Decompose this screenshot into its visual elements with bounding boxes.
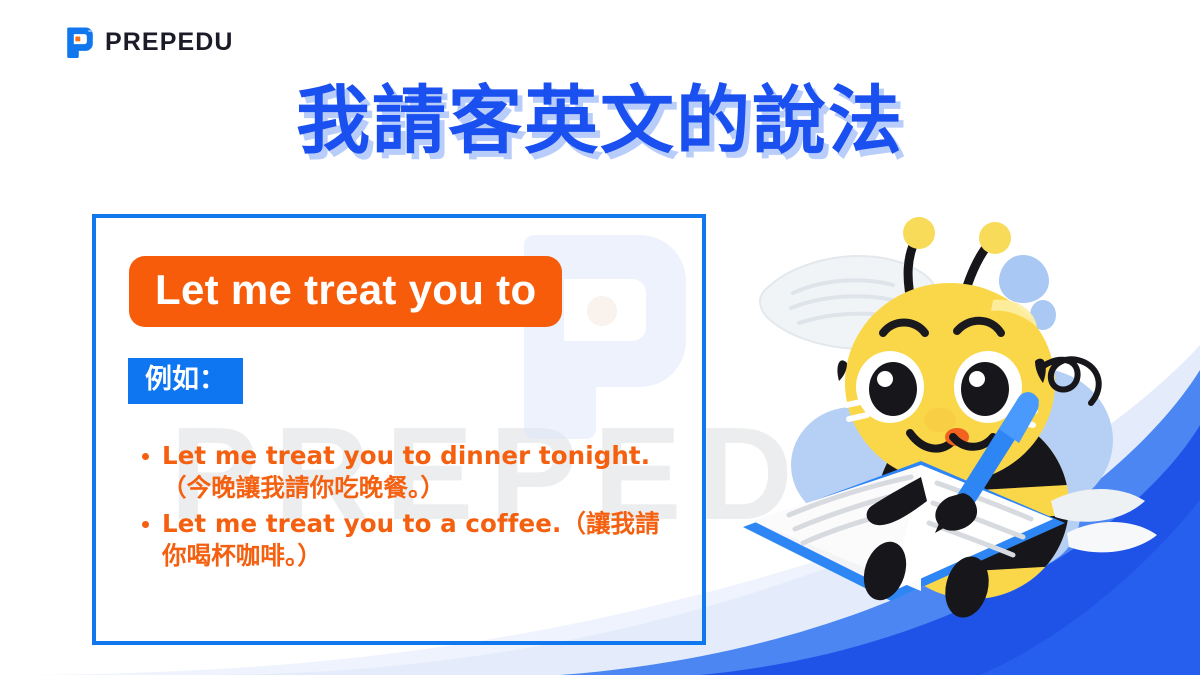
- brand-logo[interactable]: PREPEDU: [64, 26, 234, 58]
- bee-mascot-illustration: [735, 215, 1165, 635]
- example-label-badge: 例如：: [128, 358, 243, 404]
- antenna-ball-right: [979, 222, 1011, 254]
- brand-wordmark: PREPEDU: [105, 30, 234, 55]
- antenna-ball-left: [903, 217, 935, 249]
- content-card: Let me treat you to 例如： Let me treat you…: [92, 214, 706, 645]
- example-list: Let me treat you to dinner tonight.（今晚讓我…: [132, 440, 677, 575]
- page-title: 我請客英文的說法: [0, 82, 1200, 162]
- slide-canvas: PREPEDU PREPEDU 我請客英文的說法 Let me treat yo…: [0, 0, 1200, 675]
- prepedu-logo-icon: [64, 26, 96, 58]
- list-item: Let me treat you to a coffee.（讓我請你喝杯咖啡。）: [132, 508, 677, 572]
- list-item: Let me treat you to dinner tonight.（今晚讓我…: [132, 440, 677, 504]
- content-card-inner: Let me treat you to 例如： Let me treat you…: [96, 218, 702, 641]
- phrase-pill: Let me treat you to: [129, 256, 562, 327]
